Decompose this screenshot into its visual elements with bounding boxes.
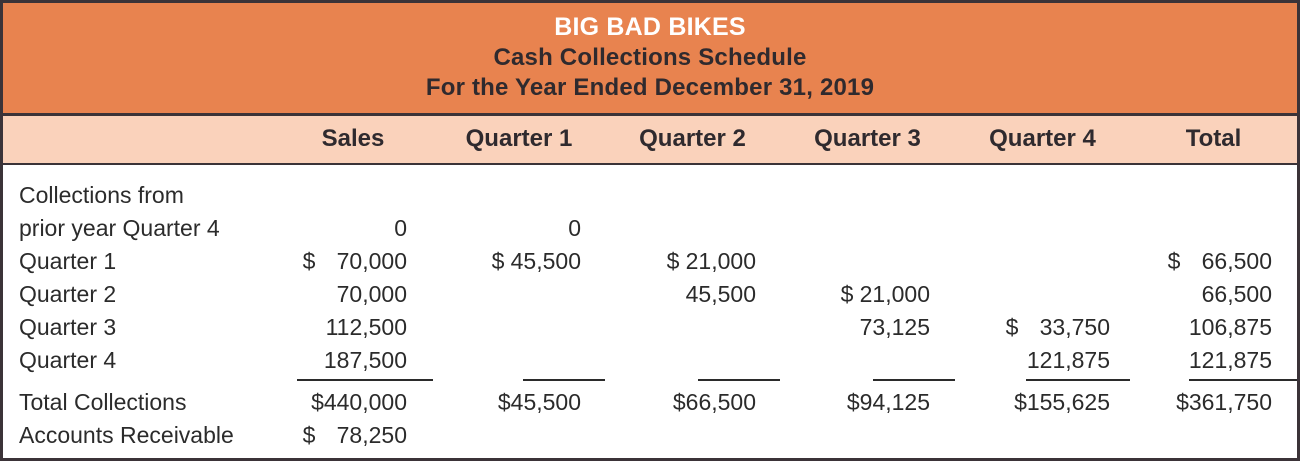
cell-quarter-3-q3: 73,125 — [780, 308, 955, 341]
cell-total-collections-sales: $440,000 — [273, 383, 433, 416]
cell-value: 70,000 — [337, 248, 407, 274]
table-row-total: Total Collections $440,000 $45,500 $66,5… — [3, 383, 1297, 416]
cell-value: 33,750 — [1040, 314, 1110, 340]
cell-prior-year-q4 — [955, 209, 1130, 242]
cell-quarter-4-q4: 121,875 — [955, 341, 1130, 374]
cell-quarter-3-q2 — [605, 308, 780, 341]
table-row: Quarter 3 112,500 73,125 $33,750 106,875 — [3, 308, 1297, 341]
currency-symbol: $ — [492, 248, 505, 275]
currency-symbol: $ — [1168, 248, 1181, 275]
row-label-accounts-receivable: Accounts Receivable — [3, 416, 273, 449]
schedule-title: Cash Collections Schedule — [3, 43, 1297, 73]
table-row: Accounts Receivable $78,250 — [3, 416, 1297, 449]
cell-empty — [433, 176, 605, 209]
cell-total-collections-total: $361,750 — [1130, 383, 1297, 416]
cell-value: 66,500 — [1202, 248, 1272, 274]
cell-quarter-1-q4 — [955, 242, 1130, 275]
cell-quarter-4-q1 — [433, 341, 605, 374]
cell-value: 45,500 — [511, 248, 581, 274]
cell-quarter-2-q1 — [433, 275, 605, 308]
cell-quarter-4-q3 — [780, 341, 955, 374]
currency-symbol: $ — [303, 422, 316, 449]
cell-quarter-1-total: $66,500 — [1130, 242, 1297, 275]
cell-quarter-2-sales: 70,000 — [273, 275, 433, 308]
cell-value: 21,000 — [686, 248, 756, 274]
cell-prior-year-total — [1130, 209, 1297, 242]
row-label-collections-from-line1: Collections from — [3, 176, 273, 209]
cell-prior-year-q1: 0 — [433, 209, 605, 242]
cell-total-collections-q1: $45,500 — [433, 383, 605, 416]
cell-total-collections-q4: $155,625 — [955, 383, 1130, 416]
row-label-quarter-3: Quarter 3 — [3, 308, 273, 341]
column-header-row: Sales Quarter 1 Quarter 2 Quarter 3 Quar… — [3, 116, 1297, 165]
cell-accounts-receivable-q3 — [780, 416, 955, 449]
cell-accounts-receivable-sales: $78,250 — [273, 416, 433, 449]
currency-symbol: $ — [841, 281, 854, 308]
cell-empty — [605, 176, 780, 209]
table-row: prior year Quarter 4 0 0 — [3, 209, 1297, 242]
currency-symbol: $ — [667, 248, 680, 275]
cell-quarter-4-sales: 187,500 — [273, 341, 433, 374]
cell-quarter-3-total: 106,875 — [1130, 308, 1297, 341]
cell-empty — [1130, 176, 1297, 209]
column-header-quarter-3: Quarter 3 — [780, 116, 955, 163]
cash-collections-schedule: BIG BAD BIKES Cash Collections Schedule … — [0, 0, 1300, 461]
currency-symbol: $ — [1006, 314, 1019, 341]
cell-quarter-2-q3: $21,000 — [780, 275, 955, 308]
schedule-body: Collections from prior year Quarter 4 0 … — [3, 165, 1297, 449]
cell-quarter-2-q2: 45,500 — [605, 275, 780, 308]
subtotal-rule-q3 — [780, 374, 955, 383]
table-row: Quarter 4 187,500 121,875 121,875 — [3, 341, 1297, 374]
cell-accounts-receivable-total — [1130, 416, 1297, 449]
cell-quarter-1-q2: $21,000 — [605, 242, 780, 275]
column-header-blank — [3, 116, 273, 163]
cell-accounts-receivable-q2 — [605, 416, 780, 449]
row-label-quarter-4: Quarter 4 — [3, 341, 273, 374]
cell-value: 21,000 — [860, 281, 930, 307]
company-name: BIG BAD BIKES — [3, 12, 1297, 43]
column-header-quarter-4: Quarter 4 — [955, 116, 1130, 163]
cell-quarter-3-sales: 112,500 — [273, 308, 433, 341]
cell-quarter-3-q4: $33,750 — [955, 308, 1130, 341]
table-row: Collections from — [3, 176, 1297, 209]
cell-quarter-1-q3 — [780, 242, 955, 275]
cell-quarter-4-q2 — [605, 341, 780, 374]
schedule-title-band: BIG BAD BIKES Cash Collections Schedule … — [3, 3, 1297, 116]
schedule-period: For the Year Ended December 31, 2019 — [3, 73, 1297, 103]
cell-quarter-3-q1 — [433, 308, 605, 341]
subtotal-rule-row — [3, 374, 1297, 383]
cell-quarter-2-total: 66,500 — [1130, 275, 1297, 308]
cell-total-collections-q2: $66,500 — [605, 383, 780, 416]
column-header-sales: Sales — [273, 116, 433, 163]
column-header-quarter-2: Quarter 2 — [605, 116, 780, 163]
cell-accounts-receivable-q1 — [433, 416, 605, 449]
subtotal-rule-q1 — [433, 374, 605, 383]
column-header-total: Total — [1130, 116, 1297, 163]
table-row: Quarter 2 70,000 45,500 $21,000 66,500 — [3, 275, 1297, 308]
cell-quarter-1-sales: $70,000 — [273, 242, 433, 275]
row-label-quarter-2: Quarter 2 — [3, 275, 273, 308]
subtotal-rule-q2 — [605, 374, 780, 383]
row-label-quarter-1: Quarter 1 — [3, 242, 273, 275]
cell-quarter-4-total: 121,875 — [1130, 341, 1297, 374]
subtotal-rule-sales — [273, 374, 433, 383]
rule-spacer — [3, 374, 273, 383]
cell-accounts-receivable-q4 — [955, 416, 1130, 449]
row-label-total-collections: Total Collections — [3, 383, 273, 416]
cell-empty — [780, 176, 955, 209]
cell-quarter-1-q1: $45,500 — [433, 242, 605, 275]
table-row: Quarter 1 $70,000 $45,500 $21,000 $66,50… — [3, 242, 1297, 275]
cell-prior-year-q3 — [780, 209, 955, 242]
subtotal-rule-total — [1130, 374, 1297, 383]
cell-total-collections-q3: $94,125 — [780, 383, 955, 416]
cell-prior-year-q2 — [605, 209, 780, 242]
cell-value: 78,250 — [337, 422, 407, 448]
row-label-prior-year-quarter-4: prior year Quarter 4 — [3, 209, 273, 242]
cell-empty — [955, 176, 1130, 209]
cell-quarter-2-q4 — [955, 275, 1130, 308]
cell-prior-year-sales: 0 — [273, 209, 433, 242]
subtotal-rule-q4 — [955, 374, 1130, 383]
column-header-quarter-1: Quarter 1 — [433, 116, 605, 163]
currency-symbol: $ — [303, 248, 316, 275]
cell-empty — [273, 176, 433, 209]
